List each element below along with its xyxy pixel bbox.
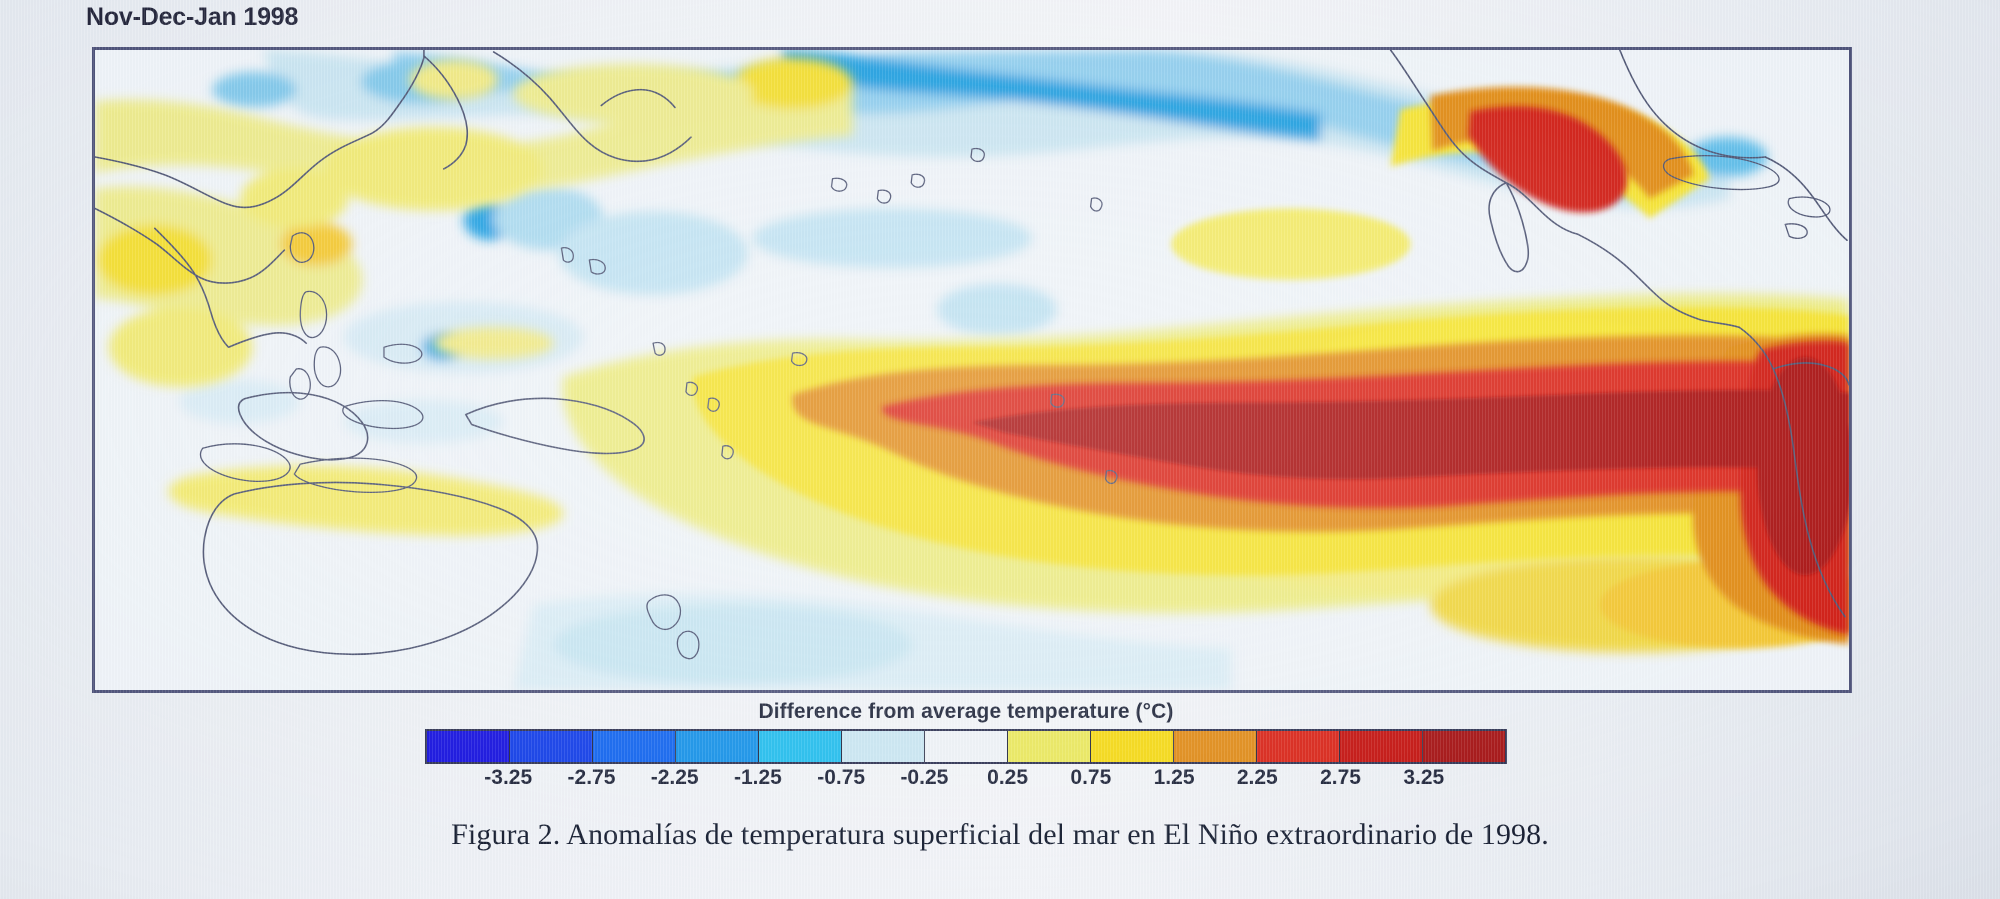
colorbar-swatch-1.25 bbox=[1091, 731, 1174, 762]
colorbar-swatch-2.75 bbox=[1257, 731, 1340, 762]
colorbar-swatch--3.25 bbox=[427, 731, 510, 762]
colorbar-swatch--2.25 bbox=[593, 731, 676, 762]
colorbar-title: Difference from average temperature (°C) bbox=[425, 700, 1507, 724]
colorbar-ticks: -3.25-2.75-2.25-1.25-0.75-0.250.250.751.… bbox=[425, 766, 1507, 796]
colorbar-swatch--2.75 bbox=[510, 731, 593, 762]
colorbar-tick-label: -0.25 bbox=[900, 766, 948, 790]
colorbar-tick-label: -0.75 bbox=[817, 766, 865, 790]
colorbar-swatch--1.25 bbox=[676, 731, 759, 762]
colorbar-swatch--0.75 bbox=[759, 731, 842, 762]
colorbar-swatch-3.25 bbox=[1340, 731, 1423, 762]
colorbar-strip bbox=[425, 729, 1507, 764]
colorbar-tick-label: 1.25 bbox=[1154, 766, 1195, 790]
sst-anomaly-map bbox=[92, 47, 1852, 693]
colorbar-swatch-max bbox=[1423, 731, 1505, 762]
colorbar-swatch-0.25 bbox=[925, 731, 1008, 762]
colorbar: Difference from average temperature (°C)… bbox=[425, 700, 1507, 796]
colorbar-swatch--0.25 bbox=[842, 731, 925, 762]
map-svg bbox=[95, 50, 1849, 690]
panel-title: Nov-Dec-Jan 1998 bbox=[86, 3, 298, 32]
colorbar-tick-label: 3.25 bbox=[1403, 766, 1444, 790]
colorbar-tick-label: -3.25 bbox=[484, 766, 532, 790]
colorbar-swatch-2.25 bbox=[1174, 731, 1257, 762]
colorbar-tick-label: 0.25 bbox=[987, 766, 1028, 790]
figure-caption: Figura 2. Anomalías de temperatura super… bbox=[0, 818, 2000, 852]
colorbar-tick-label: -2.25 bbox=[651, 766, 699, 790]
colorbar-tick-label: 2.75 bbox=[1320, 766, 1361, 790]
colorbar-swatch-0.75 bbox=[1008, 731, 1091, 762]
colorbar-tick-label: -1.25 bbox=[734, 766, 782, 790]
colorbar-tick-label: 2.25 bbox=[1237, 766, 1278, 790]
colorbar-tick-label: 0.75 bbox=[1070, 766, 1111, 790]
colorbar-tick-label: -2.75 bbox=[568, 766, 616, 790]
